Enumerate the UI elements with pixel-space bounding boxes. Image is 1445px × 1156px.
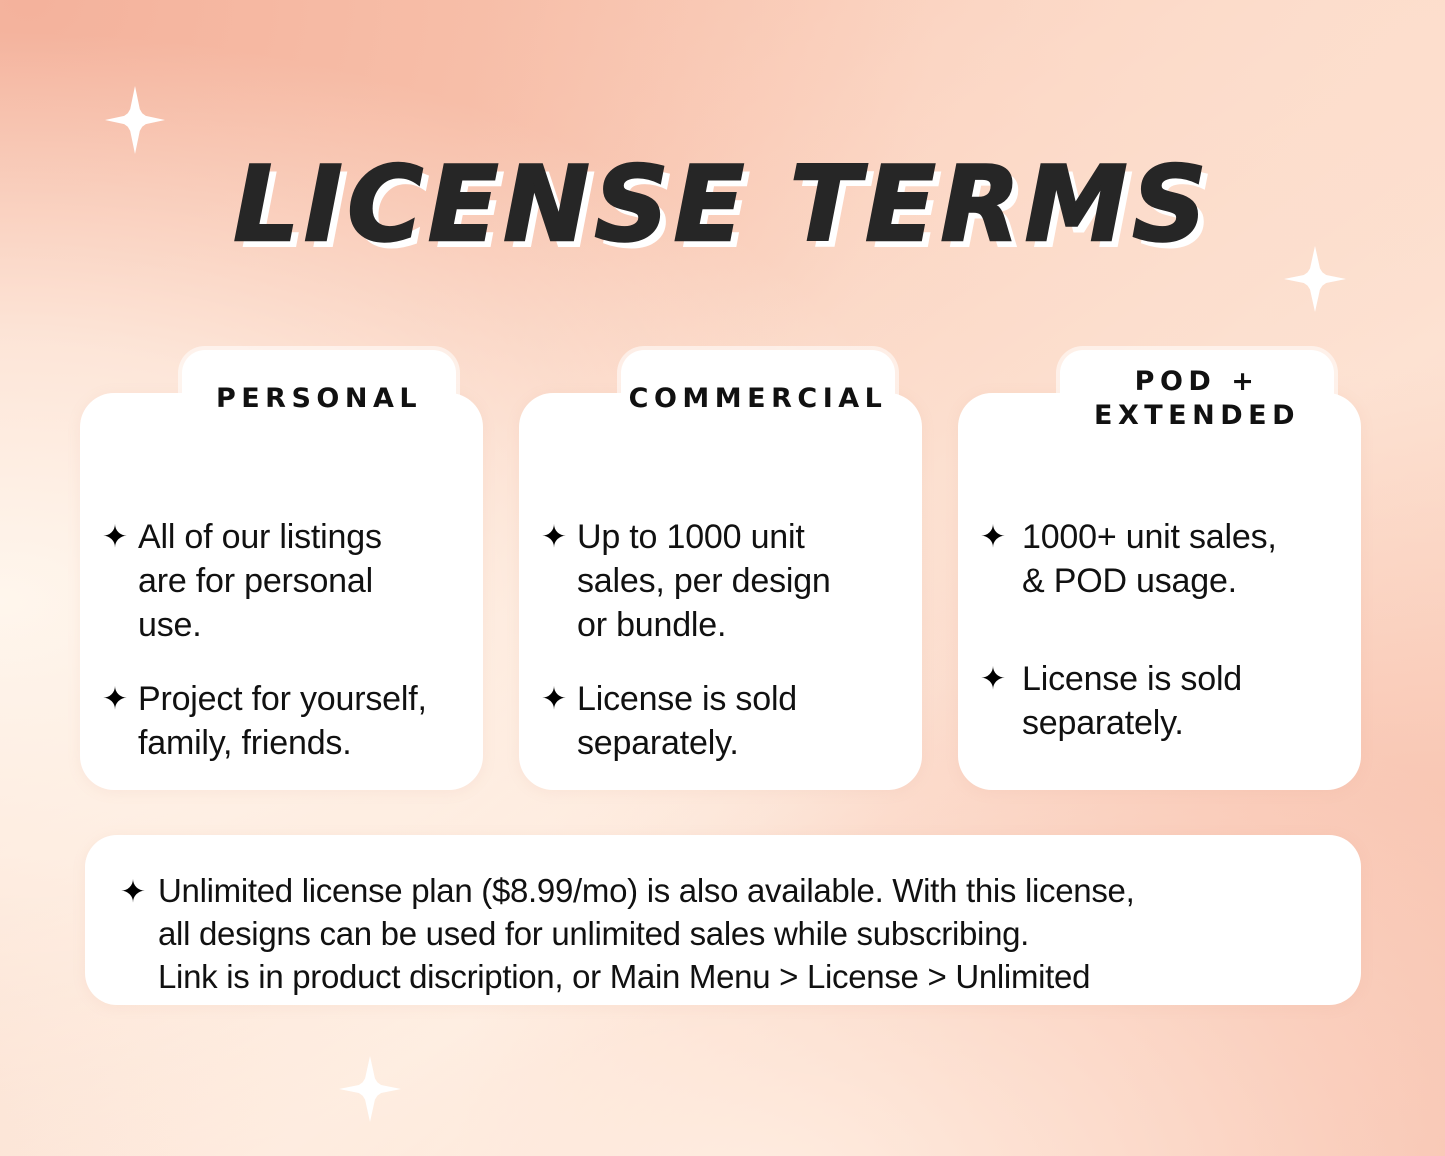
license-badge-commercial: COMMERCIAL [621,350,895,447]
license-badge-pod-extended: POD + EXTENDED [1060,350,1334,447]
unlimited-plan-text: Unlimited license plan ($8.99/mo) is als… [154,869,1327,998]
license-badge-commercial-label: COMMERCIAL [629,382,888,416]
unlimited-plan-banner-inner: ✦ Unlimited license plan ($8.99/mo) is a… [85,835,1361,998]
star-bullet-icon: ✦ [120,869,154,914]
sparkle-icon-top-left [105,86,165,154]
star-bullet-icon: ✦ [541,675,571,722]
license-badge-personal-label: PERSONAL [216,382,422,416]
list-item-text: 1000+ unit sales, & POD usage. [1010,513,1343,603]
license-card-pod-extended[interactable]: ✦ 1000+ unit sales, & POD usage. ✦ Licen… [958,393,1361,790]
star-bullet-icon: ✦ [102,675,132,722]
license-badge-pod-extended-label: POD + EXTENDED [1094,365,1300,433]
list-item: ✦ Up to 1000 unit sales, per design or b… [541,513,904,647]
list-item: ✦ License is sold separately. [541,675,904,765]
license-tier-cards: ✦ All of our listings are for personal u… [80,350,1361,792]
sparkle-icon-bottom [339,1056,401,1122]
license-card-pod-extended-body: ✦ 1000+ unit sales, & POD usage. ✦ Licen… [980,513,1343,745]
license-badge-personal: PERSONAL [182,350,456,447]
list-item-text: License is sold separately. [571,675,904,765]
license-card-commercial[interactable]: ✦ Up to 1000 unit sales, per design or b… [519,393,922,790]
star-bullet-icon: ✦ [980,513,1010,560]
list-item: ✦ All of our listings are for personal u… [102,513,465,647]
license-card-commercial-body: ✦ Up to 1000 unit sales, per design or b… [541,513,904,765]
star-bullet-icon: ✦ [102,513,132,560]
list-item-text: Up to 1000 unit sales, per design or bun… [571,513,904,647]
list-item: ✦ Project for yourself, family, friends. [102,675,465,765]
list-item-text: License is sold separately. [1010,655,1343,745]
unlimited-plan-banner[interactable]: ✦ Unlimited license plan ($8.99/mo) is a… [85,835,1361,1005]
list-item-text: All of our listings are for personal use… [132,513,465,647]
star-bullet-icon: ✦ [541,513,571,560]
license-terms-graphic: LICENSE TERMS ✦ All of our listings are … [0,0,1445,1156]
list-item: ✦ License is sold separately. [980,655,1343,745]
page-title: LICENSE TERMS [0,150,1445,260]
star-bullet-icon: ✦ [980,655,1010,702]
license-card-personal-body: ✦ All of our listings are for personal u… [102,513,465,765]
license-card-personal[interactable]: ✦ All of our listings are for personal u… [80,393,483,790]
list-item: ✦ 1000+ unit sales, & POD usage. [980,513,1343,603]
list-item-text: Project for yourself, family, friends. [132,675,465,765]
